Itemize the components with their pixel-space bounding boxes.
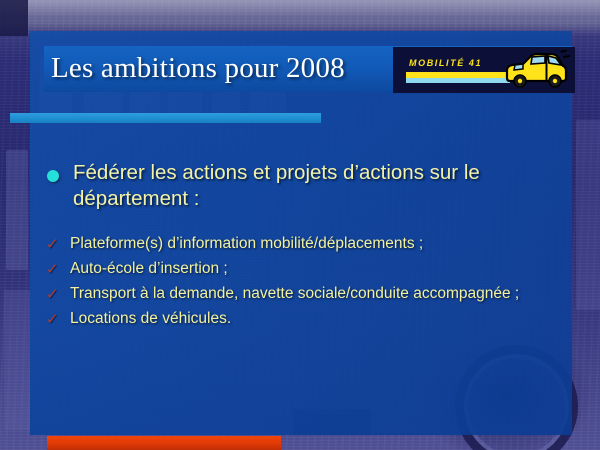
sub-bullet-text: Locations de véhicules. — [70, 309, 231, 329]
sub-bullet-text: Plateforme(s) d’information mobilité/dép… — [70, 234, 423, 254]
sub-bullet-text: Auto-école d’insertion ; — [70, 259, 228, 279]
bottom-red-block — [47, 436, 281, 450]
sub-bullet-list: ✓ Plateforme(s) d’information mobilité/d… — [44, 234, 556, 329]
list-item: ✓ Transport à la demande, navette social… — [44, 284, 556, 304]
bullet-list: Fédérer les actions et projets d’actions… — [44, 160, 556, 334]
yellow-car-icon — [501, 50, 571, 90]
title-underline-bar — [10, 113, 321, 123]
background-photo-corner-shadow — [0, 0, 28, 36]
sub-bullet-text: Transport à la demande, navette sociale/… — [70, 284, 519, 304]
checkmark-icon: ✓ — [46, 310, 64, 329]
logo-cyan-bar — [406, 78, 510, 83]
checkmark-icon: ✓ — [46, 285, 64, 304]
mobilite-41-logo: MOBILITÉ 41 — [393, 47, 575, 93]
main-bullet-item: Fédérer les actions et projets d’actions… — [44, 160, 556, 212]
logo-wordmark: MOBILITÉ 41 — [409, 58, 482, 68]
background-photo-top-band — [0, 0, 600, 16]
slide-title: Les ambitions pour 2008 — [51, 52, 391, 90]
checkmark-icon: ✓ — [46, 260, 64, 279]
bullet-dot-icon — [47, 170, 59, 182]
list-item: ✓ Locations de véhicules. — [44, 309, 556, 329]
main-bullet-text: Fédérer les actions et projets d’actions… — [73, 160, 543, 212]
presentation-slide: Les ambitions pour 2008 MOBILITÉ 41 Fédé… — [0, 0, 600, 450]
list-item: ✓ Plateforme(s) d’information mobilité/d… — [44, 234, 556, 254]
list-item: ✓ Auto-école d’insertion ; — [44, 259, 556, 279]
checkmark-icon: ✓ — [46, 235, 64, 254]
